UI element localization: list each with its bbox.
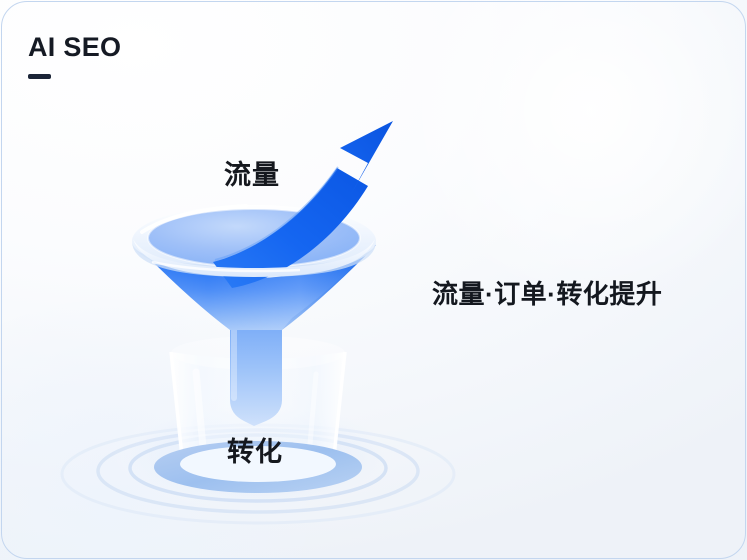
slide-canvas: AI SEO 流量 转化 流量·订单·转化提升 — [0, 0, 747, 560]
tagline-text: 流量·订单·转化提升 — [432, 274, 662, 311]
funnel-label-conversion: 转化 — [227, 430, 283, 469]
title-underline-accent — [28, 74, 51, 79]
funnel-label-traffic: 流量 — [224, 153, 280, 192]
title-block: AI SEO — [28, 34, 121, 79]
page-title: AI SEO — [28, 34, 121, 61]
funnel-stem — [230, 322, 282, 426]
